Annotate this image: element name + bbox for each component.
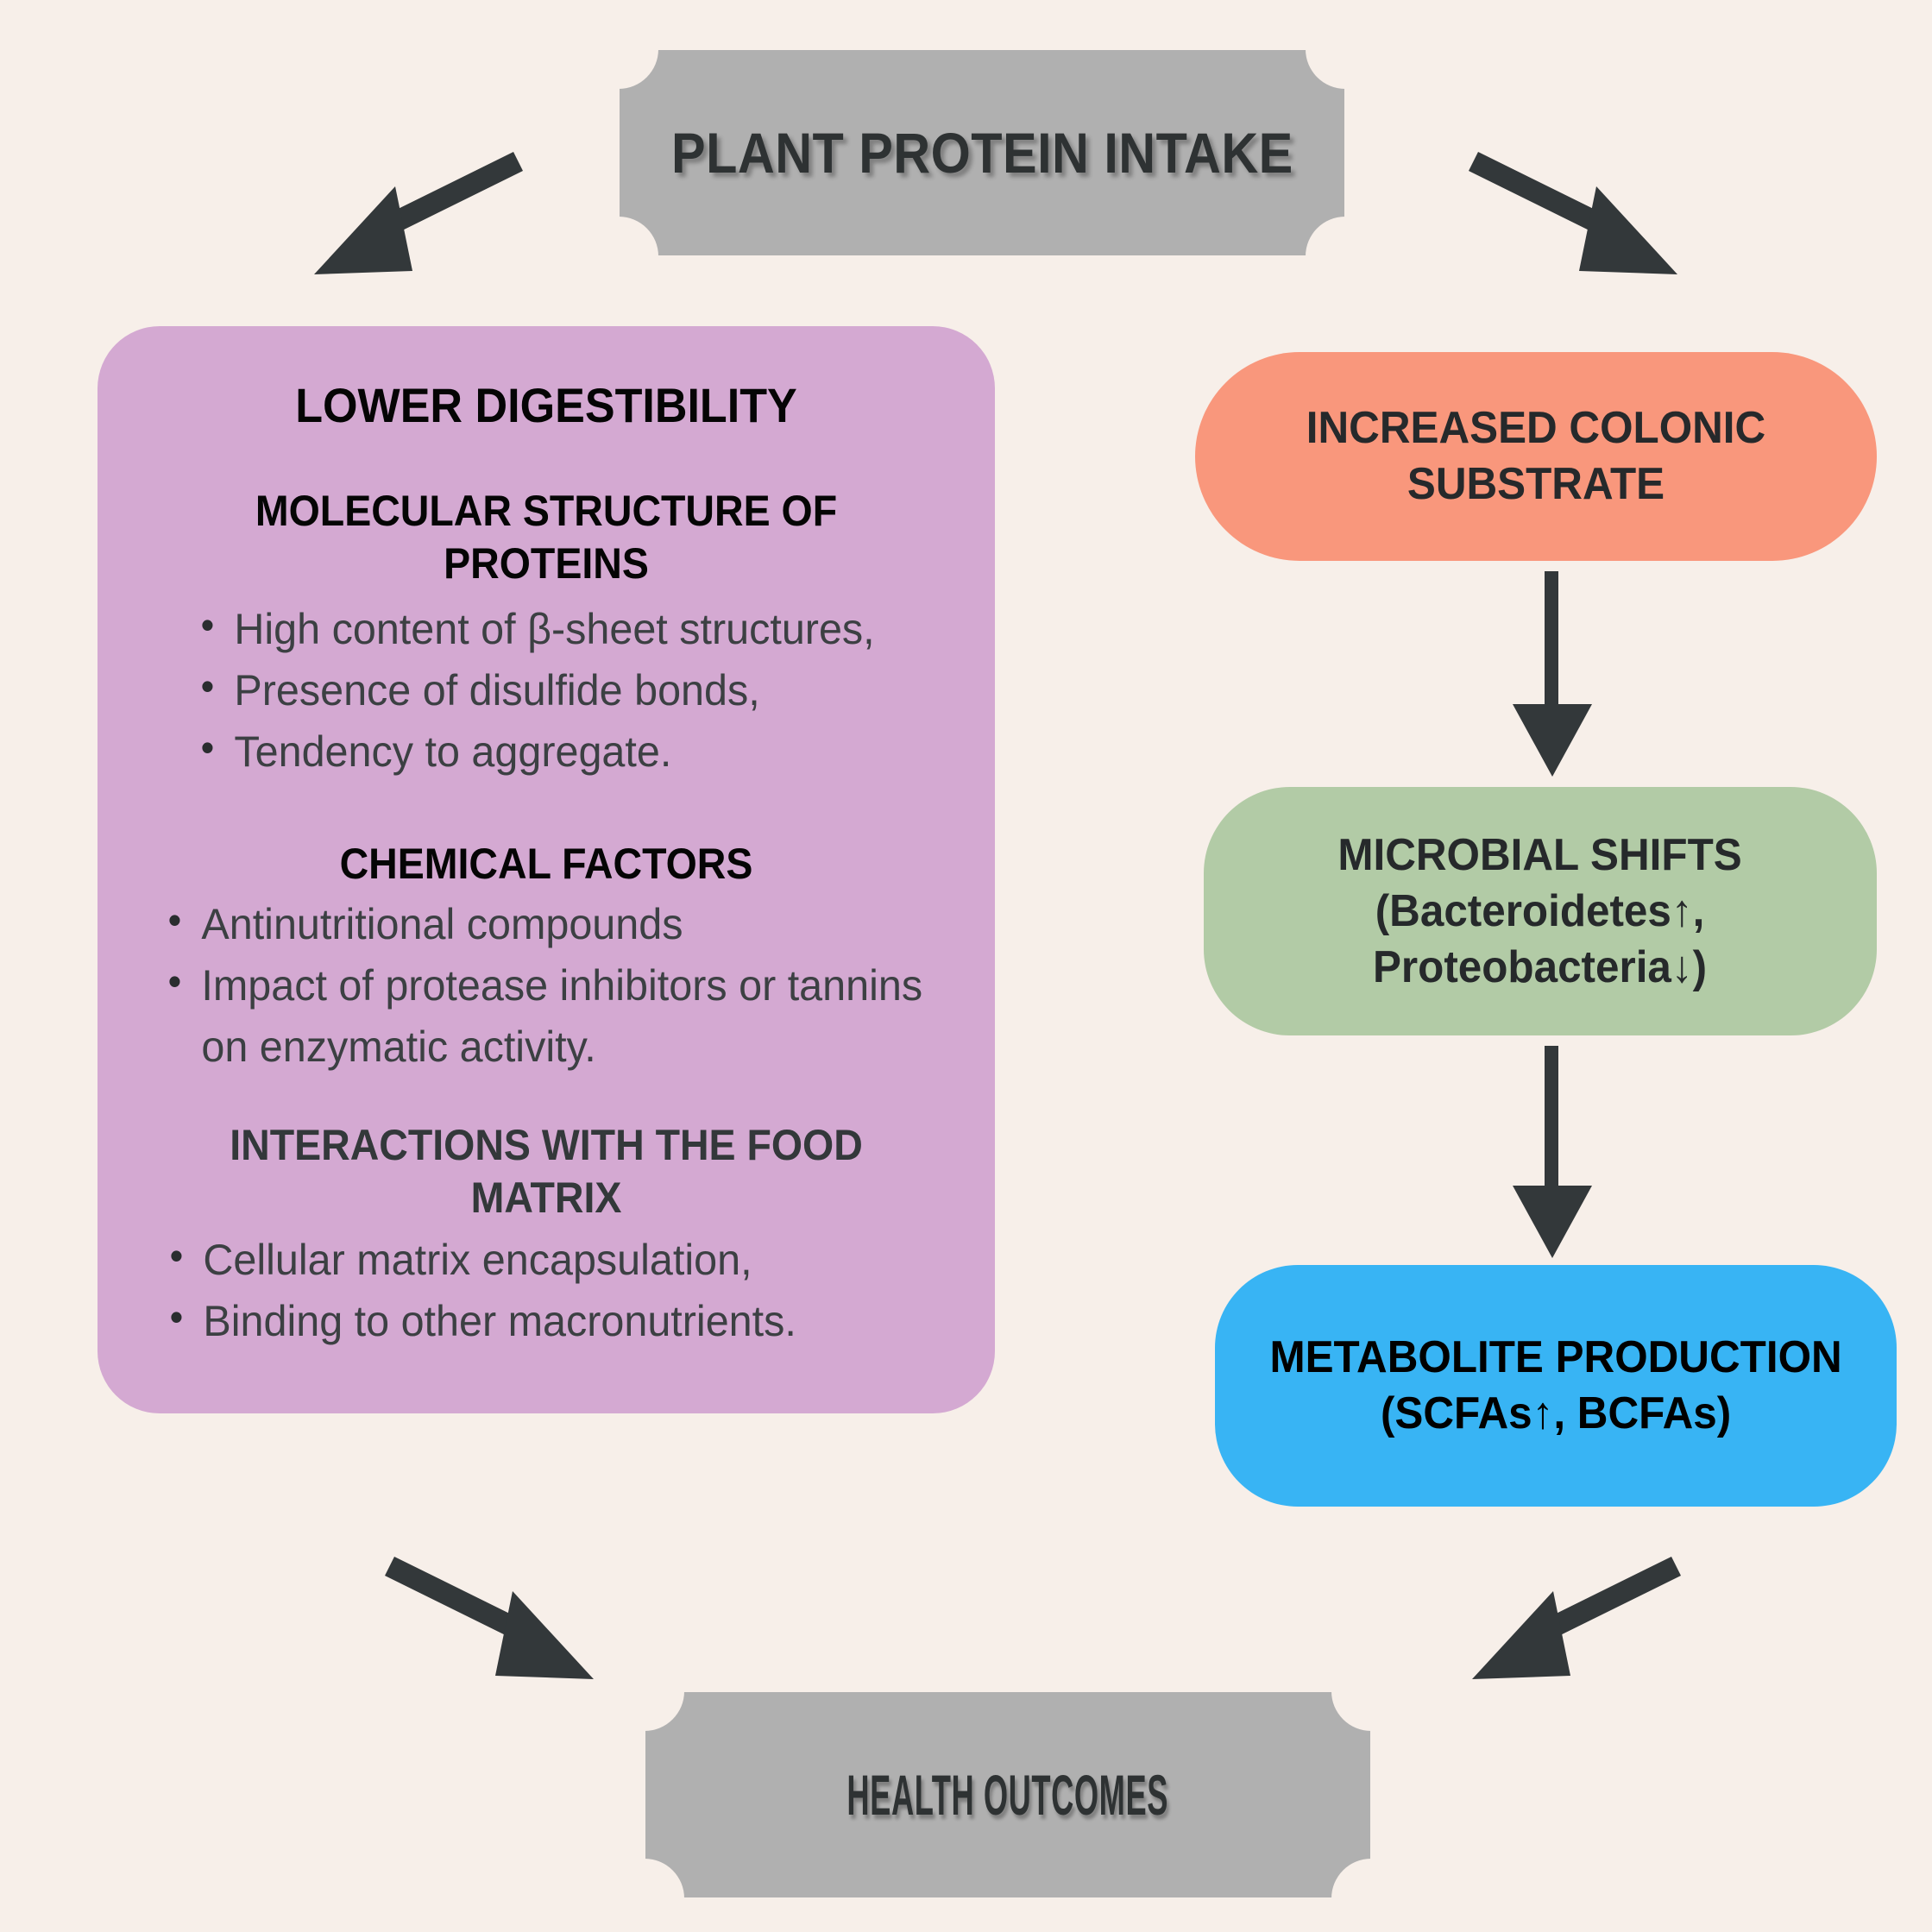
metabolite-production-label: METABOLITE PRODUCTION (SCFAs↑, BCFAs) — [1269, 1330, 1841, 1442]
banner-notch-bottom-right — [1306, 217, 1345, 256]
health-outcomes-label: HEALTH OUTCOMES — [847, 1762, 1169, 1828]
microbial-shifts-label: MICROBIAL SHIFTS (Bacteroidetes↑, Proteo… — [1338, 828, 1742, 996]
microbial-shifts-line-2: (Bacteroidetes↑, — [1375, 886, 1705, 936]
banner-notch-bottom-left — [619, 217, 658, 256]
banner-notch-top-left — [619, 49, 658, 89]
list-item: Cellular matrix encapsulation, — [158, 1230, 931, 1291]
food-matrix-list: Cellular matrix encapsulation, Binding t… — [158, 1230, 955, 1352]
arrow-down-icon — [1501, 571, 1605, 780]
lower-digestibility-panel: LOWER DIGESTIBILITY MOLECULAR STRUCTURE … — [98, 326, 995, 1413]
health-outcomes-banner: HEALTH OUTCOMES — [645, 1692, 1370, 1897]
plant-protein-intake-label: PLANT PROTEIN INTAKE — [671, 120, 1293, 186]
chemical-factors-heading: CHEMICAL FACTORS — [166, 838, 927, 890]
list-item: Antinutritional compounds — [156, 894, 931, 955]
banner-notch-bottom-right — [1331, 1859, 1371, 1898]
banner-notch-top-right — [1306, 49, 1345, 89]
chemical-factors-list: Antinutritional compounds Impact of prot… — [156, 894, 955, 1078]
list-item: Impact of protease inhibitors or tannins… — [156, 955, 931, 1078]
arrow-down-right-icon — [383, 1550, 607, 1705]
arrow-down-left-icon — [1458, 1550, 1683, 1705]
microbial-shifts-pill: MICROBIAL SHIFTS (Bacteroidetes↑, Proteo… — [1204, 787, 1877, 1035]
arrow-down-left-icon — [300, 145, 525, 283]
list-item: Tendency to aggregate. — [189, 721, 932, 783]
metabolite-production-line-1: METABOLITE PRODUCTION — [1269, 1332, 1841, 1382]
food-matrix-heading: INTERACTIONS WITH THE FOOD MATRIX — [166, 1119, 927, 1224]
molecular-structure-list: High content of β-sheet structures, Pres… — [189, 599, 955, 783]
arrow-down-right-icon — [1467, 145, 1691, 283]
list-item: Binding to other macronutrients. — [158, 1291, 931, 1352]
list-item: Presence of disulfide bonds, — [189, 660, 932, 721]
metabolite-production-pill: METABOLITE PRODUCTION (SCFAs↑, BCFAs) — [1215, 1265, 1897, 1507]
metabolite-production-line-2: (SCFAs↑, BCFAs) — [1381, 1388, 1731, 1438]
molecular-structure-heading: MOLECULAR STRUCTURE OF PROTEINS — [166, 485, 927, 590]
microbial-shifts-line-1: MICROBIAL SHIFTS — [1338, 830, 1742, 880]
plant-protein-intake-banner: PLANT PROTEIN INTAKE — [620, 50, 1344, 255]
banner-notch-top-left — [645, 1691, 684, 1731]
banner-notch-bottom-left — [645, 1859, 684, 1898]
diagram-canvas: PLANT PROTEIN INTAKE LOWER DIGESTIBILITY… — [0, 0, 1932, 1932]
banner-notch-top-right — [1331, 1691, 1371, 1731]
lower-digestibility-title: LOWER DIGESTIBILITY — [166, 376, 927, 435]
increased-colonic-substrate-label: INCREASED COLONIC SUBSTRATE — [1212, 400, 1860, 513]
arrow-down-icon — [1501, 1046, 1605, 1260]
increased-colonic-substrate-pill: INCREASED COLONIC SUBSTRATE — [1195, 352, 1877, 561]
microbial-shifts-line-3: Proteobacteria↓) — [1373, 942, 1707, 992]
list-item: High content of β-sheet structures, — [189, 599, 932, 660]
